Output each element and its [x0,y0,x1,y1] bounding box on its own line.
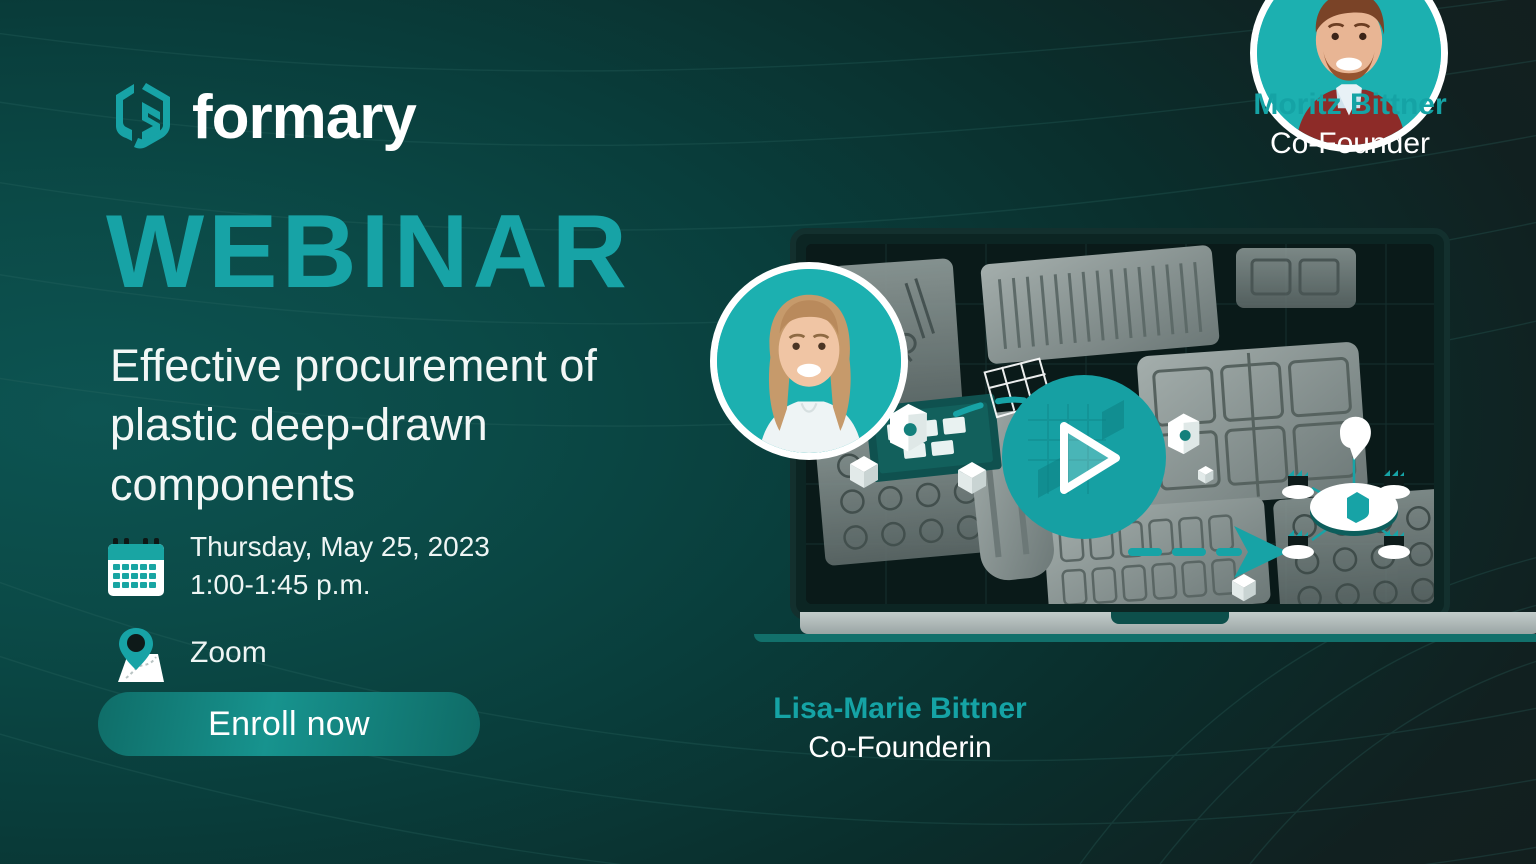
avatar-lisa [717,269,901,453]
event-time: 1:00-1:45 p.m. [190,566,490,604]
formary-hexagon-logo-icon [108,80,176,156]
event-date: Thursday, May 25, 2023 [190,528,490,566]
calendar-icon [104,533,168,599]
left-content-column: formary WEBINAR Effective procurement of… [0,0,700,864]
laptop-foot [754,634,1536,642]
date-row: Thursday, May 25, 2023 1:00-1:45 p.m. [104,528,490,604]
speaker-name: Lisa-Marie Bittner [620,690,1180,728]
avatar [710,262,908,460]
speaker-label-moritz: Moritz Bittner Co-Founder [1150,86,1536,163]
page-title: Effective procurement of plastic deep-dr… [110,336,690,514]
event-location: Zoom [190,636,267,670]
speaker-label-lisa: Lisa-Marie Bittner Co-Founderin [620,690,1180,767]
speaker-name: Moritz Bittner [1150,86,1536,124]
speaker-role: Co-Founder [1150,124,1536,163]
map-pin-icon [104,620,168,686]
event-details: Thursday, May 25, 2023 1:00-1:45 p.m. Zo… [104,528,490,686]
laptop-base [800,612,1536,634]
enroll-now-button[interactable]: Enroll now [98,692,480,756]
location-row: Zoom [104,620,490,686]
speaker-role: Co-Founderin [620,728,1180,767]
brand-logo[interactable]: formary [108,80,416,156]
laptop-screen-content [806,244,1434,604]
date-time-text: Thursday, May 25, 2023 1:00-1:45 p.m. [190,528,490,604]
play-button-icon [1002,375,1166,539]
title-line-2: plastic deep-drawn [110,395,690,454]
brand-name: formary [192,87,416,149]
eyebrow-webinar: WEBINAR [106,200,631,304]
laptop-icon [790,228,1450,620]
title-line-1: Effective procurement of [110,336,690,395]
poster-canvas: formary WEBINAR Effective procurement of… [0,0,1536,864]
enroll-now-label: Enroll now [208,705,370,744]
title-line-3: components [110,455,690,514]
packaging-scene-illustration [806,244,1434,604]
right-illustration-column: Moritz Bittner Co-Founder [690,0,1536,864]
